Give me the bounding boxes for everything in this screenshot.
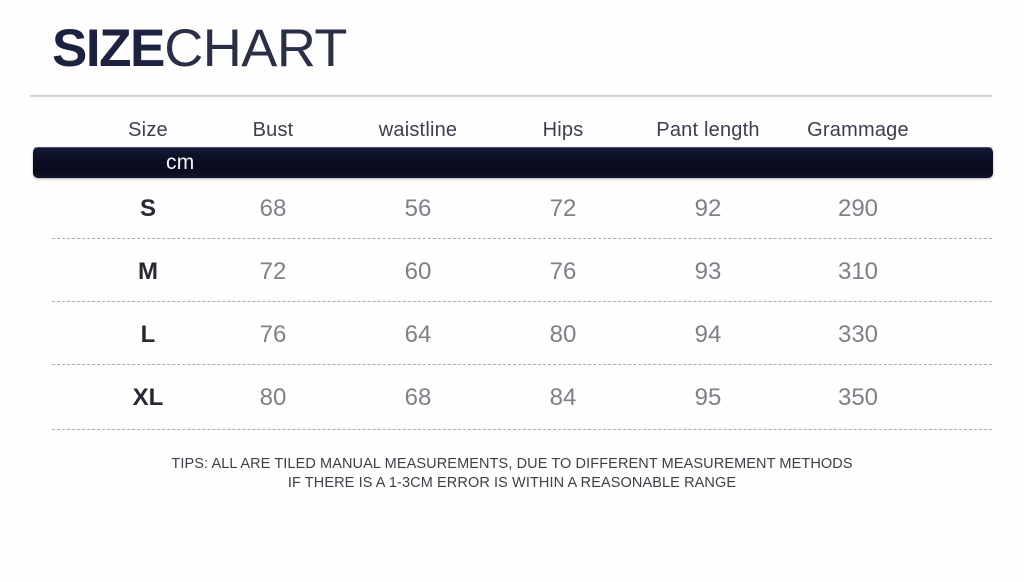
cell-bust: 68 xyxy=(198,195,348,223)
unit-label: cm xyxy=(166,151,195,175)
table-row: L 76 64 80 94 330 xyxy=(52,312,992,358)
cell-waistline: 56 xyxy=(348,195,488,223)
row-separator xyxy=(52,238,992,239)
cell-pant-length: 95 xyxy=(638,384,778,412)
cell-pant-length: 93 xyxy=(638,258,778,286)
row-size-label: S xyxy=(98,195,198,223)
unit-bar: cm xyxy=(33,147,993,178)
footer-tips-line-2: IF THERE IS A 1-3CM ERROR IS WITHIN A RE… xyxy=(0,474,1024,493)
table-row: S 68 56 72 92 290 xyxy=(52,186,992,232)
cell-grammage: 310 xyxy=(778,258,938,286)
row-separator xyxy=(52,301,992,302)
table-header-row: Size Bust waistline Hips Pant length Gra… xyxy=(52,114,992,146)
cell-grammage: 330 xyxy=(778,321,938,349)
cell-pant-length: 94 xyxy=(638,321,778,349)
row-separator xyxy=(52,429,992,430)
cell-hips: 80 xyxy=(488,321,638,349)
column-header-grammage: Grammage xyxy=(778,119,938,142)
column-header-size: Size xyxy=(98,119,198,142)
row-size-label: M xyxy=(98,258,198,286)
cell-bust: 72 xyxy=(198,258,348,286)
cell-grammage: 350 xyxy=(778,384,938,412)
cell-pant-length: 92 xyxy=(638,195,778,223)
size-table: Size Bust waistline Hips Pant length Gra… xyxy=(0,0,1024,582)
footer-tips: TIPS: ALL ARE TILED MANUAL MEASUREMENTS,… xyxy=(0,455,1024,493)
column-header-pant-length: Pant length xyxy=(638,119,778,142)
column-header-hips: Hips xyxy=(488,119,638,142)
table-row: XL 80 68 84 95 350 xyxy=(52,375,992,421)
row-size-label: L xyxy=(98,321,198,349)
cell-hips: 84 xyxy=(488,384,638,412)
column-header-waistline: waistline xyxy=(348,119,488,142)
cell-waistline: 64 xyxy=(348,321,488,349)
cell-waistline: 60 xyxy=(348,258,488,286)
footer-tips-line-1: TIPS: ALL ARE TILED MANUAL MEASUREMENTS,… xyxy=(0,455,1024,474)
cell-bust: 80 xyxy=(198,384,348,412)
column-header-bust: Bust xyxy=(198,119,348,142)
size-chart-page: SIZE CHART Size Bust waistline Hips Pant… xyxy=(0,0,1024,582)
table-row: M 72 60 76 93 310 xyxy=(52,249,992,295)
cell-grammage: 290 xyxy=(778,195,938,223)
cell-waistline: 68 xyxy=(348,384,488,412)
cell-hips: 72 xyxy=(488,195,638,223)
cell-hips: 76 xyxy=(488,258,638,286)
row-separator xyxy=(52,364,992,365)
row-size-label: XL xyxy=(98,384,198,412)
cell-bust: 76 xyxy=(198,321,348,349)
